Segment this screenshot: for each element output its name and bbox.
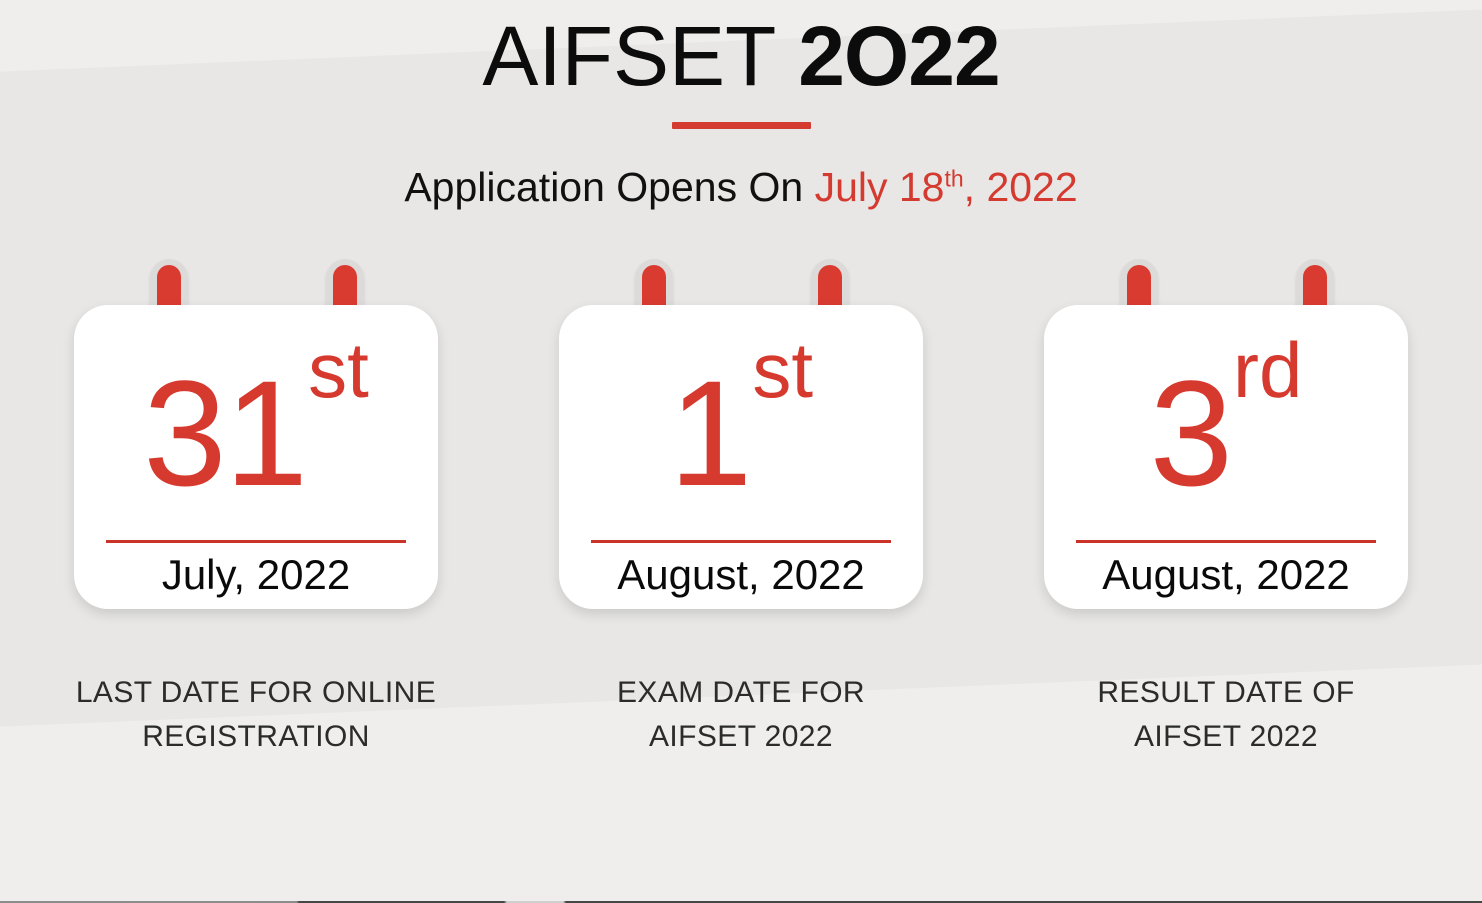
subtitle-date-main: July 18	[815, 164, 945, 210]
header: AIFSET 2O22 Application Opens On July 18…	[0, 0, 1482, 211]
calendar-caption-line2: AIFSET 2022	[996, 715, 1456, 759]
calendar-caption: RESULT DATE OF AIFSET 2022	[996, 671, 1456, 760]
calendar-day-suffix: st	[752, 331, 813, 409]
page-title-light: AIFSET	[482, 9, 798, 103]
page-title: AIFSET 2O22	[0, 14, 1482, 98]
calendar-card-body: 1st August, 2022	[559, 305, 923, 609]
calendar-month-year: July, 2022	[162, 551, 350, 609]
title-underline	[672, 122, 811, 129]
calendar-card-exam: 1st August, 2022 EXAM DATE FOR AIFSET 20…	[559, 259, 923, 760]
calendar-icon: 31st July, 2022	[74, 259, 438, 609]
calendar-card-body: 31st July, 2022	[74, 305, 438, 609]
calendar-caption-line2: REGISTRATION	[26, 715, 486, 759]
calendar-day-number: 3	[1150, 358, 1231, 508]
subtitle-date-ordinal: th	[945, 165, 964, 191]
calendar-day-line: 3rd	[1044, 325, 1408, 540]
calendar-caption-line1: RESULT DATE OF	[996, 671, 1456, 715]
page-title-bold: 2O22	[798, 9, 1000, 103]
calendar-card-result: 3rd August, 2022 RESULT DATE OF AIFSET 2…	[1044, 259, 1408, 760]
calendar-day-suffix: rd	[1233, 331, 1302, 409]
calendar-card-registration: 31st July, 2022 LAST DATE FOR ONLINE REG…	[74, 259, 438, 760]
calendar-caption: LAST DATE FOR ONLINE REGISTRATION	[26, 671, 486, 760]
calendar-caption: EXAM DATE FOR AIFSET 2022	[511, 671, 971, 760]
calendar-caption-line1: EXAM DATE FOR	[511, 671, 971, 715]
calendar-day-number: 1	[669, 358, 750, 508]
calendar-day-line: 31st	[74, 325, 438, 540]
calendar-divider	[106, 540, 406, 543]
calendar-divider	[591, 540, 891, 543]
subtitle-date-rest: , 2022	[964, 164, 1078, 210]
calendar-month-year: August, 2022	[617, 551, 865, 609]
calendar-divider	[1076, 540, 1376, 543]
calendar-caption-line1: LAST DATE FOR ONLINE	[26, 671, 486, 715]
calendar-cards-row: 31st July, 2022 LAST DATE FOR ONLINE REG…	[0, 259, 1482, 760]
calendar-day-number: 31	[143, 358, 306, 508]
calendar-icon: 3rd August, 2022	[1044, 259, 1408, 609]
calendar-month-year: August, 2022	[1102, 551, 1350, 609]
calendar-icon: 1st August, 2022	[559, 259, 923, 609]
subtitle: Application Opens On July 18th, 2022	[0, 164, 1482, 211]
subtitle-prefix: Application Opens On	[404, 164, 814, 210]
calendar-card-body: 3rd August, 2022	[1044, 305, 1408, 609]
calendar-caption-line2: AIFSET 2022	[511, 715, 971, 759]
calendar-day-suffix: st	[308, 331, 369, 409]
page-root: AIFSET 2O22 Application Opens On July 18…	[0, 0, 1482, 903]
calendar-day-line: 1st	[559, 325, 923, 540]
